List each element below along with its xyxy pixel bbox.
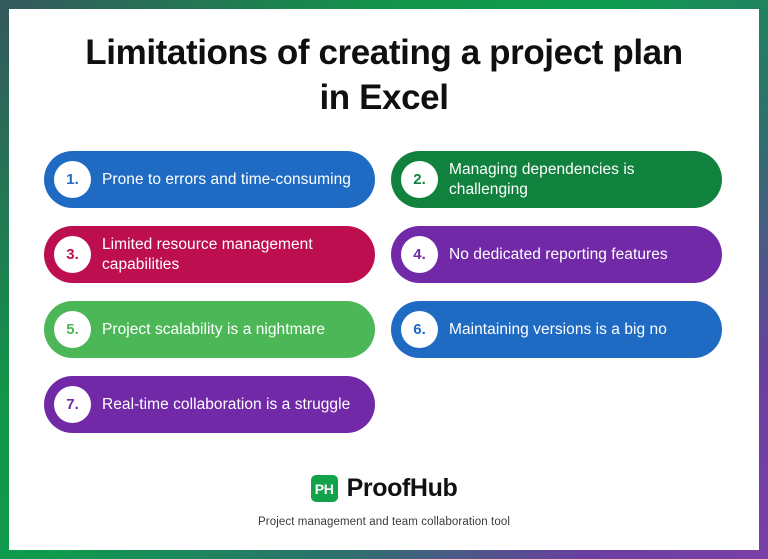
limitation-label: Limited resource management capabilities bbox=[102, 235, 361, 275]
page-title: Limitations of creating a project plan i… bbox=[9, 31, 759, 121]
limitation-number-badge: 6. bbox=[401, 311, 438, 348]
footer-tagline: Project management and team collaboratio… bbox=[9, 516, 759, 528]
limitation-label: Project scalability is a nightmare bbox=[102, 320, 361, 340]
infographic-card: Limitations of creating a project plan i… bbox=[0, 0, 768, 559]
limitation-label: No dedicated reporting features bbox=[449, 245, 708, 265]
limitation-label: Real-time collaboration is a struggle bbox=[102, 395, 361, 415]
limitation-number-badge: 3. bbox=[54, 236, 91, 273]
limitation-number-badge: 2. bbox=[401, 161, 438, 198]
proofhub-brand-name: ProofHub bbox=[347, 474, 458, 503]
limitation-label: Prone to errors and time-consuming bbox=[102, 170, 361, 190]
proofhub-logo[interactable]: PH ProofHub bbox=[9, 474, 759, 503]
limitation-item[interactable]: 6.Maintaining versions is a big no bbox=[391, 301, 722, 358]
proofhub-logo-mark-icon: PH bbox=[311, 475, 338, 502]
limitations-list: 1.Prone to errors and time-consuming2.Ma… bbox=[44, 151, 734, 433]
limitation-number-badge: 7. bbox=[54, 386, 91, 423]
limitation-item[interactable]: 7.Real-time collaboration is a struggle bbox=[44, 376, 375, 433]
limitation-number-badge: 4. bbox=[401, 236, 438, 273]
limitation-label: Maintaining versions is a big no bbox=[449, 320, 708, 340]
limitation-item[interactable]: 5.Project scalability is a nightmare bbox=[44, 301, 375, 358]
limitation-item[interactable]: 3.Limited resource management capabiliti… bbox=[44, 226, 375, 283]
limitation-number-badge: 5. bbox=[54, 311, 91, 348]
footer: PH ProofHub Project management and team … bbox=[9, 474, 759, 528]
limitation-item[interactable]: 2.Managing dependencies is challenging bbox=[391, 151, 722, 208]
limitation-number-badge: 1. bbox=[54, 161, 91, 198]
limitation-item[interactable]: 1.Prone to errors and time-consuming bbox=[44, 151, 375, 208]
infographic-canvas: Limitations of creating a project plan i… bbox=[9, 9, 759, 550]
limitation-label: Managing dependencies is challenging bbox=[449, 160, 708, 200]
limitation-item[interactable]: 4.No dedicated reporting features bbox=[391, 226, 722, 283]
